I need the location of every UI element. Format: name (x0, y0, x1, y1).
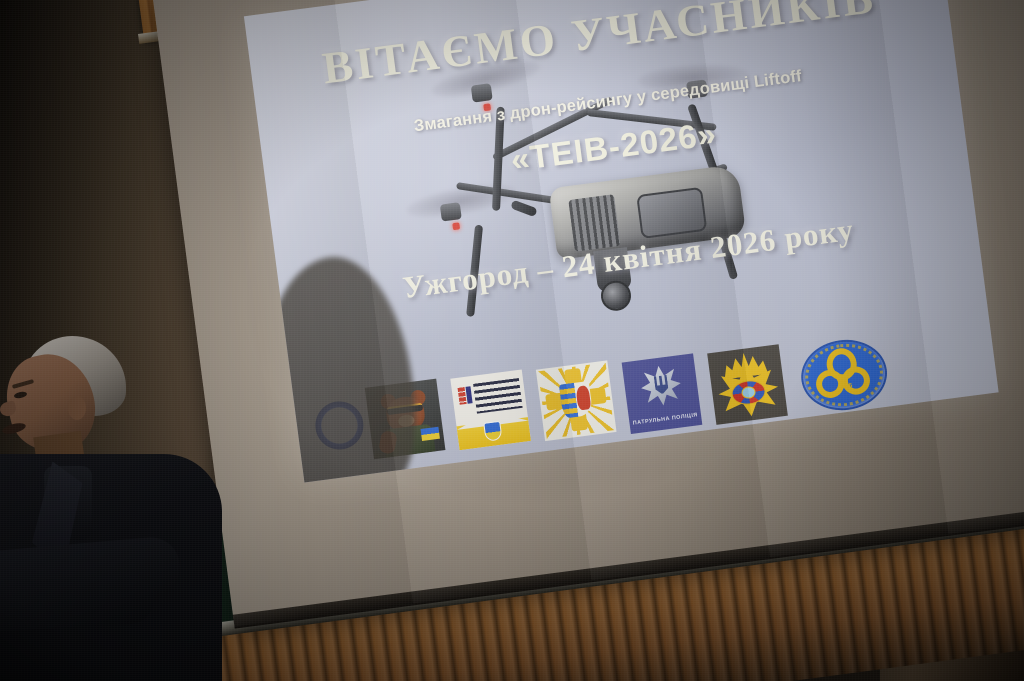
police-star-icon (639, 363, 684, 408)
bear-mascot-emblem (365, 379, 446, 460)
tryzub-icon (654, 375, 669, 395)
drone-leg-1 (492, 107, 505, 211)
coa-cross-vertical-icon (564, 368, 588, 432)
zakarpattia-coat-of-arms (536, 360, 617, 441)
partial-blue-circular-logo (312, 399, 366, 453)
quadcopter-drone (381, 4, 846, 357)
drone-foot-2 (688, 190, 714, 213)
drone-motor-4 (715, 175, 737, 194)
projected-slide: ВІТАЄМО УЧАСНИКІВ Змагання з дрон-рейсин… (244, 0, 999, 482)
ukraine-flag-patch-icon (421, 427, 440, 441)
drone-foot-1 (510, 200, 538, 218)
dsns-center-icon (741, 386, 756, 400)
zova-red-bars-icon (458, 387, 467, 405)
zova-yellow-band (456, 417, 531, 451)
speaker-head-shadow (246, 249, 427, 483)
coa-shield-icon (559, 381, 593, 419)
uni-knot-left-icon (811, 365, 849, 403)
drone-side-panel (636, 187, 707, 239)
sponsor-logo-row: ПАТРУЛЬНА ПОЛІЦІЯ 1945 (303, 303, 999, 479)
projection-screen: ВІТАЄМО УЧАСНИКІВ Змагання з дрон-рейсин… (152, 0, 1024, 627)
photo-scene: ВІТАЄМО УЧАСНИКІВ Змагання з дрон-рейсин… (0, 0, 1024, 681)
slide-title: ВІТАЄМО УЧАСНИКІВ (249, 0, 950, 104)
slide-subtitle: Змагання з дрон-рейсингу у середовищі Li… (260, 47, 957, 156)
drone-arm-4 (604, 163, 728, 210)
propeller-blur-front-left (428, 53, 543, 104)
bear-arm-icon (378, 430, 398, 455)
drone-arm-1 (492, 96, 613, 161)
coa-bear-icon (575, 385, 591, 410)
bear-head-icon (384, 395, 426, 434)
drone-gimbal-mount (593, 247, 632, 293)
dsns-oval-icon (730, 378, 767, 406)
uzhhorod-national-university-logo: 1945 (793, 332, 896, 417)
propeller-blur-front-right (637, 62, 750, 95)
zova-blue-bar-icon (465, 386, 472, 404)
projector-glow (244, 0, 999, 482)
drone-leg-3 (466, 225, 483, 317)
dsns-emergency-service-emblem (707, 344, 788, 425)
zova-shield-icon (483, 421, 502, 442)
drone-motor-3 (440, 202, 462, 221)
slide-place-and-date: Ужгород – 24 квітня 2026 року (279, 196, 978, 322)
bear-ear-left-icon (380, 393, 397, 410)
drone-motor-2 (686, 79, 708, 98)
slide-event-name: «ТЕІВ-2026» (264, 83, 963, 211)
drone-led-2 (452, 222, 460, 230)
drone-arm-3 (456, 182, 588, 209)
bear-uniform-icon (382, 424, 435, 458)
propeller-blur-rear-right (627, 172, 740, 201)
drone-leg-4 (707, 197, 738, 280)
dsns-star-icon (715, 361, 781, 420)
drone-arm-2 (587, 109, 717, 131)
bear-snout-icon (398, 414, 415, 428)
coa-stripes-icon (559, 383, 578, 419)
drone-leg-2 (687, 103, 727, 198)
uni-knot-top-icon (825, 346, 859, 382)
speaker (0, 330, 220, 681)
drone-led-1 (483, 103, 491, 111)
drone-fuselage (549, 164, 747, 260)
speaker-ear (68, 396, 86, 420)
patrol-police-label: ПАТРУЛЬНА ПОЛІЦІЯ (629, 411, 701, 428)
drone-camera-icon (599, 279, 633, 313)
bear-ear-right-icon (410, 389, 427, 406)
uni-oval-icon (797, 335, 891, 415)
dsns-wreath-icon (722, 350, 769, 379)
uni-founding-year: 1945 (799, 378, 893, 396)
uni-text-ring-icon (801, 339, 886, 411)
drone-vents (568, 194, 620, 251)
propeller-blur-rear-left (404, 178, 519, 224)
zakarpattia-regional-military-administration-logo (450, 370, 531, 451)
coa-sunburst-icon (538, 363, 614, 439)
patrol-police-logo: ПАТРУЛЬНА ПОЛІЦІЯ (622, 353, 703, 434)
bear-goggles-icon (386, 403, 423, 416)
uni-knot-right-icon (839, 363, 873, 397)
coa-cross-horizontal-icon (545, 387, 607, 411)
zova-wordmark-lines (473, 378, 522, 414)
speaker-arm-crossed (0, 573, 155, 633)
drone-motor-1 (471, 83, 493, 102)
